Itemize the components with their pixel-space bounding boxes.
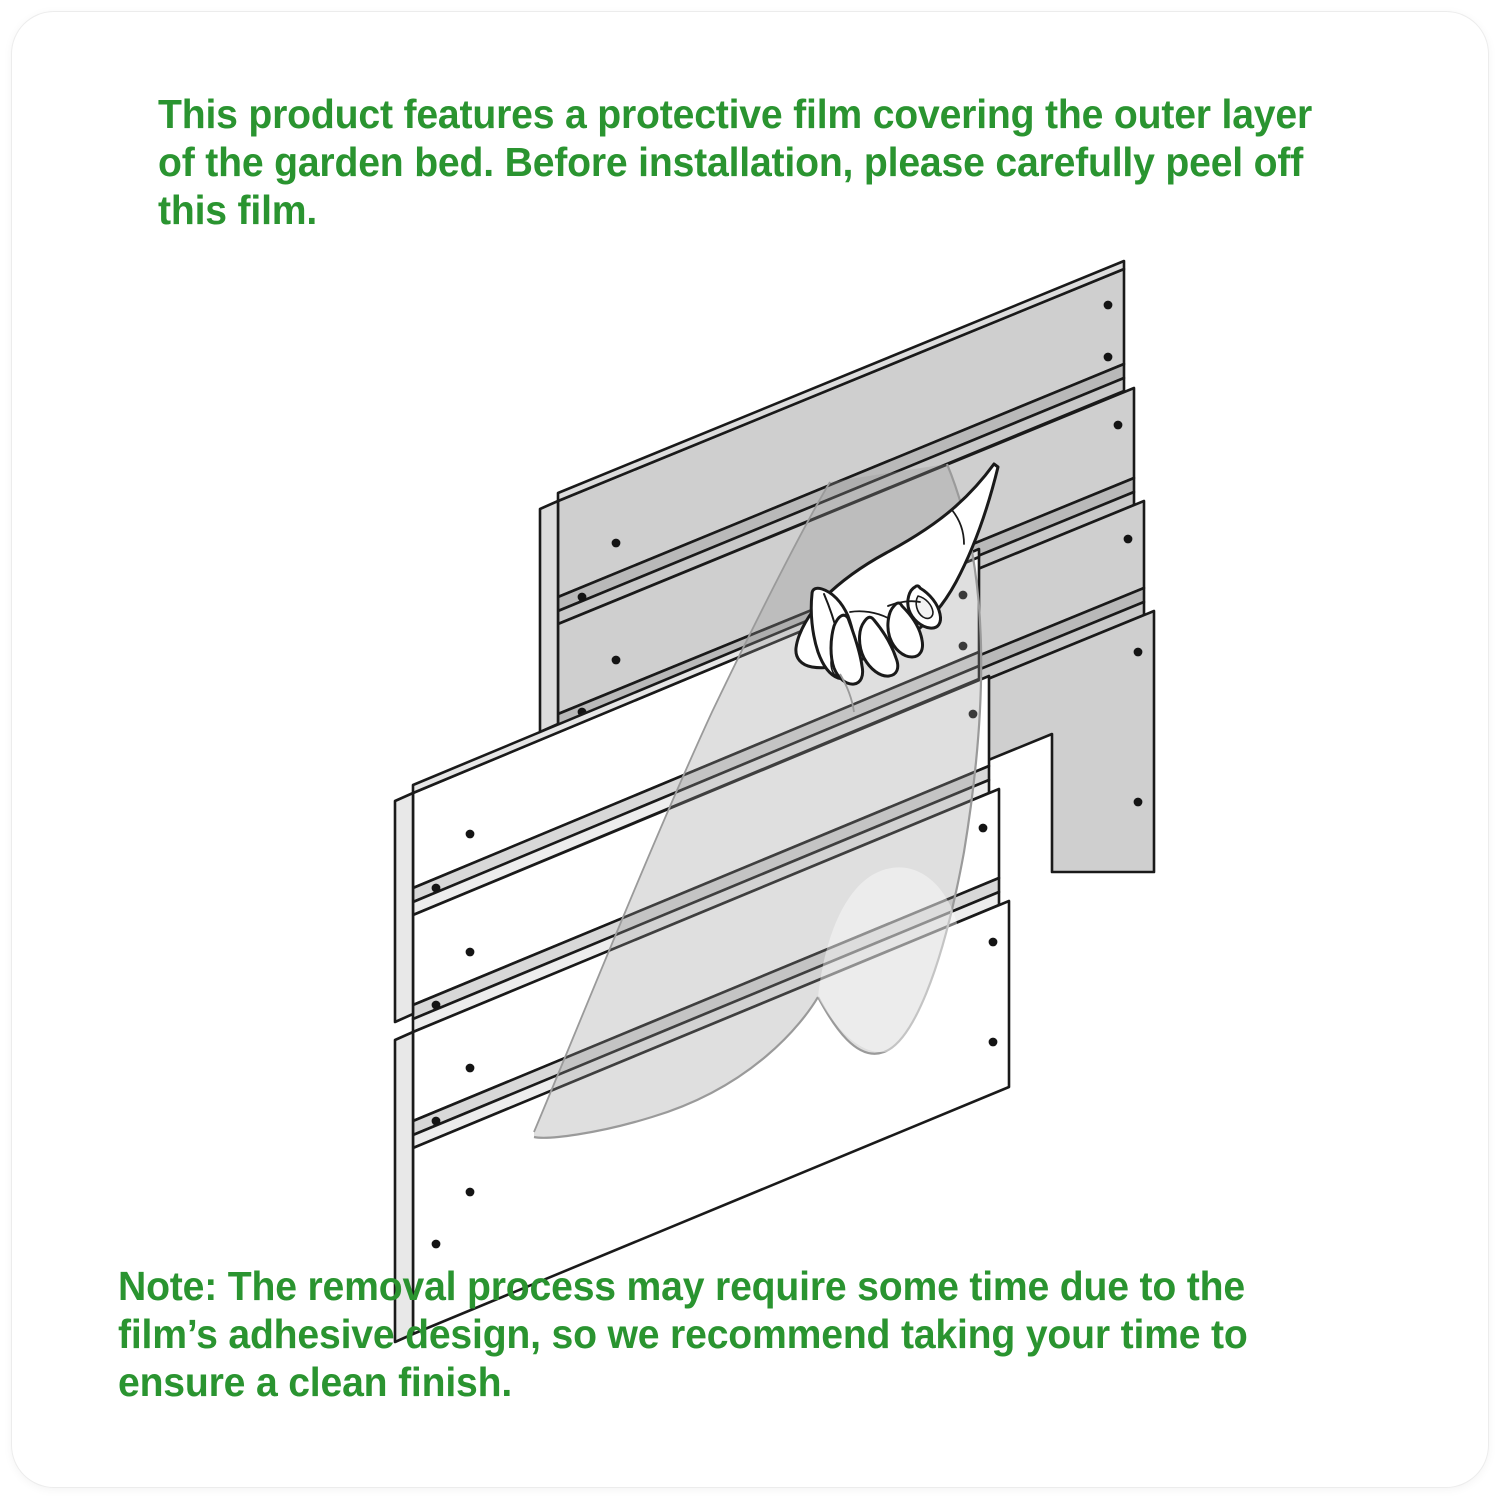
protective-film [534,464,981,1138]
rear-panel-band-1-top-edge [558,261,1124,501]
rear-panel-ridge-1 [558,364,1124,611]
rear-panel-band-3 [558,501,1144,828]
rivet [989,938,998,947]
rear-panel-left-flange [540,501,558,732]
front-panel-band-2 [413,676,989,1005]
rivet [959,591,968,600]
rear-panel [540,261,1154,936]
rivet [1134,798,1143,807]
page-title: This product features a protective film … [158,90,1328,234]
illustration-root [395,261,1154,1342]
protective-film-curl-highlight [818,867,959,1052]
film-pinch-point [840,674,854,712]
front-panel-ridge-3 [413,878,999,1135]
rivet [578,593,587,602]
rivet [466,1188,475,1197]
front-panel [395,549,1009,1342]
rivet [578,708,587,717]
rivet [1104,301,1113,310]
rivet [1134,648,1143,657]
hand-wrist-crease [952,510,964,544]
hand-forearm-and-back [796,464,998,668]
rivet [612,539,621,548]
rivet [1104,353,1113,362]
rear-panel-band-4 [558,611,1154,936]
hand-knuckle-crease-1 [850,611,888,618]
rear-panel-left-flange-lower [540,741,558,852]
rivet [432,884,441,893]
rivet [612,656,621,665]
front-panel-ridge-1b [413,666,979,915]
front-panel-ridge-2b [413,780,989,1032]
hand-ring-finger [888,603,923,657]
rear-panel-ridge-3 [558,588,1144,842]
rivet [959,642,968,651]
hand-thumb-crease [824,594,840,644]
hand-thumb-nail [831,652,846,677]
film-pinch-strip [840,674,854,712]
front-panel-left-flange [395,793,413,1022]
protective-film-left-edge [534,482,830,1132]
rear-panel-ridge-2b [558,492,1134,741]
rivet [466,948,475,957]
front-panel-band-1 [413,557,979,888]
rivet [466,830,475,839]
rivet [989,1038,998,1047]
hand-little-finger-nail [916,596,933,618]
rear-panel-band-2 [558,388,1134,714]
rear-panel-ridge-1b [558,378,1124,624]
hand [796,464,998,684]
rear-panel-ridge-3b [558,602,1144,855]
front-panel-ridge-2 [413,766,989,1019]
protective-film-edge [818,464,981,1054]
hand-thumb [811,588,855,678]
rivet [432,1240,441,1249]
rivet [432,1001,441,1010]
rear-panel-ridge-2 [558,478,1134,728]
rivet [432,1117,441,1126]
protective-film-sheet [534,464,981,1138]
rivet [1124,535,1133,544]
rivet [969,710,978,719]
protective-film-curl-edge [534,997,818,1138]
rivet [979,824,988,833]
front-panel-ridge-1 [413,652,979,902]
instruction-card: This product features a protective film … [12,12,1488,1487]
hand-index-finger [831,615,863,684]
note-text: Note: The removal process may require so… [118,1262,1350,1406]
hand-knuckle-crease-2 [888,601,920,606]
rear-panel-band-1 [558,269,1124,597]
front-panel-ridge-3b [413,892,999,1148]
front-panel-band-1-top-edge [413,549,979,793]
rivet [1114,421,1123,430]
hand-little-finger [908,586,941,628]
front-panel-band-3 [413,789,999,1121]
hand-middle-finger [860,617,898,676]
rivet [466,1064,475,1073]
